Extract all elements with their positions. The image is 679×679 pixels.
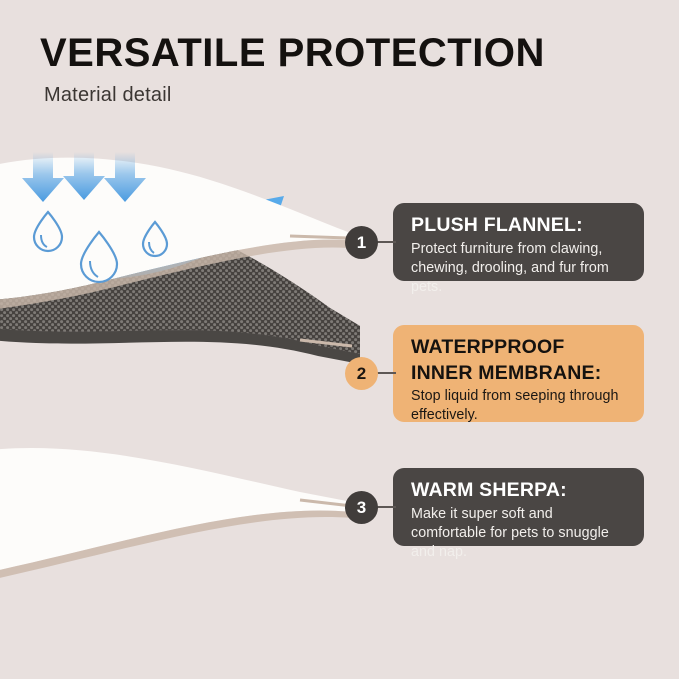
connector-line-1 bbox=[376, 241, 396, 243]
material-cross-section-illustration bbox=[0, 140, 400, 610]
connector-line-3 bbox=[376, 506, 396, 508]
callout-body-1: Protect furniture from clawing, chewing,… bbox=[411, 240, 629, 297]
callout-title-1: PLUSH FLANNEL: bbox=[411, 214, 629, 237]
leader-lines bbox=[290, 236, 352, 506]
warm-sherpa-layer bbox=[0, 448, 352, 580]
step-badge-2: 2 bbox=[345, 357, 378, 390]
callout-title-2-line-2: INNER MEMBRANE: bbox=[411, 362, 629, 385]
connector-line-2 bbox=[376, 372, 396, 374]
callout-title-2-line-1: WATERPPROOF bbox=[411, 336, 629, 359]
callout-waterproof-membrane: WATERPPROOF INNER MEMBRANE: Stop liquid … bbox=[393, 325, 644, 422]
page-title: VERSATILE PROTECTION bbox=[40, 32, 640, 74]
header: VERSATILE PROTECTION Material detail bbox=[40, 32, 640, 107]
down-arrow-icon-group bbox=[22, 152, 146, 202]
callout-body-3: Make it super soft and comfortable for p… bbox=[411, 505, 629, 562]
step-badge-3: 3 bbox=[345, 491, 378, 524]
callout-plush-flannel: PLUSH FLANNEL: Protect furniture from cl… bbox=[393, 203, 644, 281]
infographic-canvas: VERSATILE PROTECTION Material detail bbox=[0, 0, 679, 679]
callout-warm-sherpa: WARM SHERPA: Make it super soft and comf… bbox=[393, 468, 644, 546]
step-badge-1: 1 bbox=[345, 226, 378, 259]
callout-body-2: Stop liquid from seeping through effecti… bbox=[411, 387, 629, 425]
page-subtitle: Material detail bbox=[44, 84, 640, 107]
callout-title-3: WARM SHERPA: bbox=[411, 479, 629, 502]
